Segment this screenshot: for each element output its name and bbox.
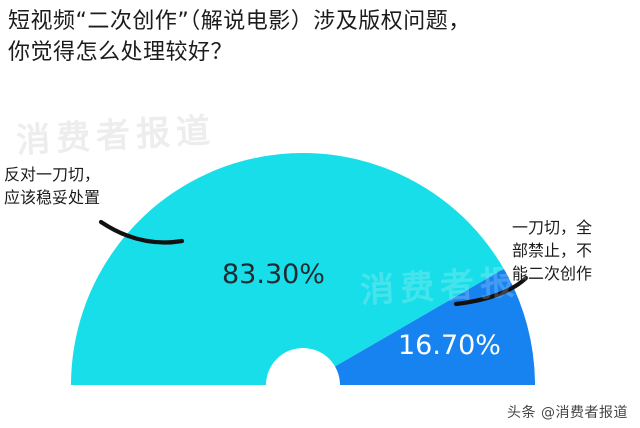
callout-right-line-1: 一刀切，全 (512, 216, 592, 239)
callout-left-line-1: 反对一刀切， (4, 163, 100, 186)
value-label-major: 83.30% (222, 259, 325, 290)
chart-svg (0, 0, 640, 428)
callout-label-left: 反对一刀切， 应该稳妥处置 (4, 163, 100, 209)
chart-page: 短视频“二次创作”（解说电影）涉及版权问题， 你觉得怎么处理较好？ 消费者报道 … (0, 0, 640, 428)
value-label-minor: 16.70% (398, 330, 501, 361)
footer-attribution: 头条 @消费者报道 (507, 402, 628, 422)
callout-right-line-2: 部禁止，不 (512, 239, 592, 262)
callout-left-line-2: 应该稳妥处置 (4, 186, 100, 209)
callout-right-line-3: 能二次创作 (512, 262, 592, 285)
half-donut-chart (0, 0, 640, 428)
callout-label-right: 一刀切，全 部禁止，不 能二次创作 (512, 216, 592, 285)
